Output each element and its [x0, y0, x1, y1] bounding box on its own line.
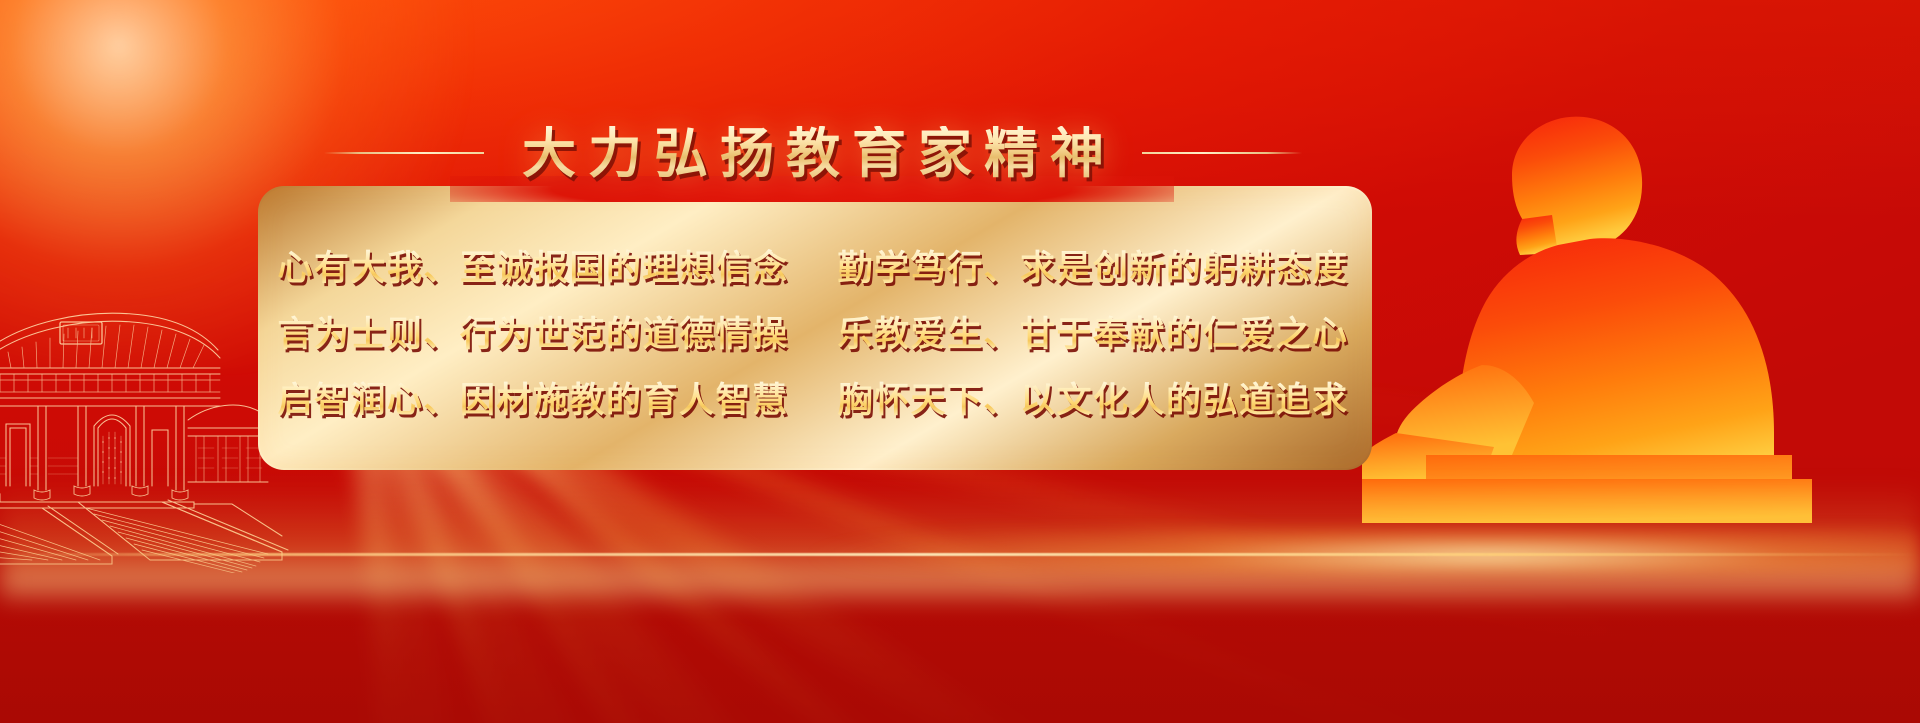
title-rule-left: [324, 152, 484, 154]
slogan-left-2: 言为士则、行为世范的道德情操: [277, 315, 788, 355]
slogan-grid: 心有大我、至诚报国的理想信念 勤学笃行、求是创新的躬耕态度 言为士则、行为世范的…: [258, 200, 1368, 452]
floor-highlight-line: [0, 553, 1920, 556]
slogan-right-3: 胸怀天下、以文化人的弘道追求: [837, 381, 1348, 421]
title-row: 大力弘扬教育家精神: [258, 120, 1368, 186]
banner-root: 大力弘扬教育家精神 心有大我、至诚报国的理想信念 勤学笃行、求是创新的躬耕态度 …: [0, 0, 1920, 723]
title-rule-right: [1142, 152, 1302, 154]
page-title: 大力弘扬教育家精神: [510, 126, 1116, 180]
slogan-right-2: 乐教爱生、甘于奉献的仁爱之心: [837, 315, 1348, 355]
slogan-left-1: 心有大我、至诚报国的理想信念: [277, 249, 788, 289]
floor-glow-accent: [780, 529, 1920, 573]
slogan-right-1: 勤学笃行、求是创新的躬耕态度: [837, 249, 1348, 289]
slogan-left-3: 启智润心、因材施教的育人智慧: [277, 381, 788, 421]
